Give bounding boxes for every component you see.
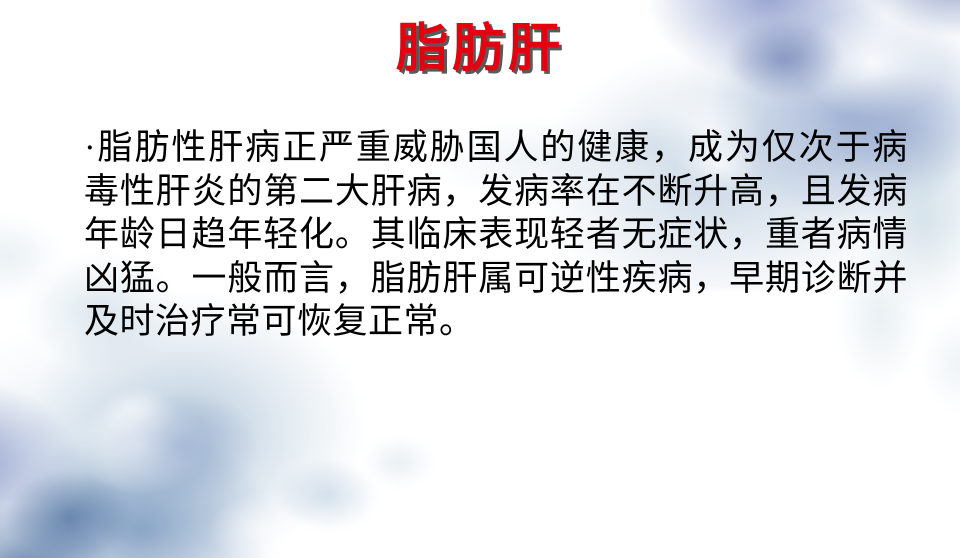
slide-body-paragraph: ·脂肪性肝病正严重威胁国人的健康，成为仅次于病毒性肝炎的第二大肝病，发病率在不断… xyxy=(84,126,908,344)
slide-body-block: ·脂肪性肝病正严重威胁国人的健康，成为仅次于病毒性肝炎的第二大肝病，发病率在不断… xyxy=(84,126,908,344)
watercolor-wash-bottom-left-accent xyxy=(0,318,320,558)
slide-canvas: 脂肪肝 ·脂肪性肝病正严重威胁国人的健康，成为仅次于病毒性肝炎的第二大肝病，发病… xyxy=(0,0,960,558)
slide-title: 脂肪肝 xyxy=(0,20,960,80)
watercolor-wash-bottom-fleck xyxy=(240,402,460,552)
